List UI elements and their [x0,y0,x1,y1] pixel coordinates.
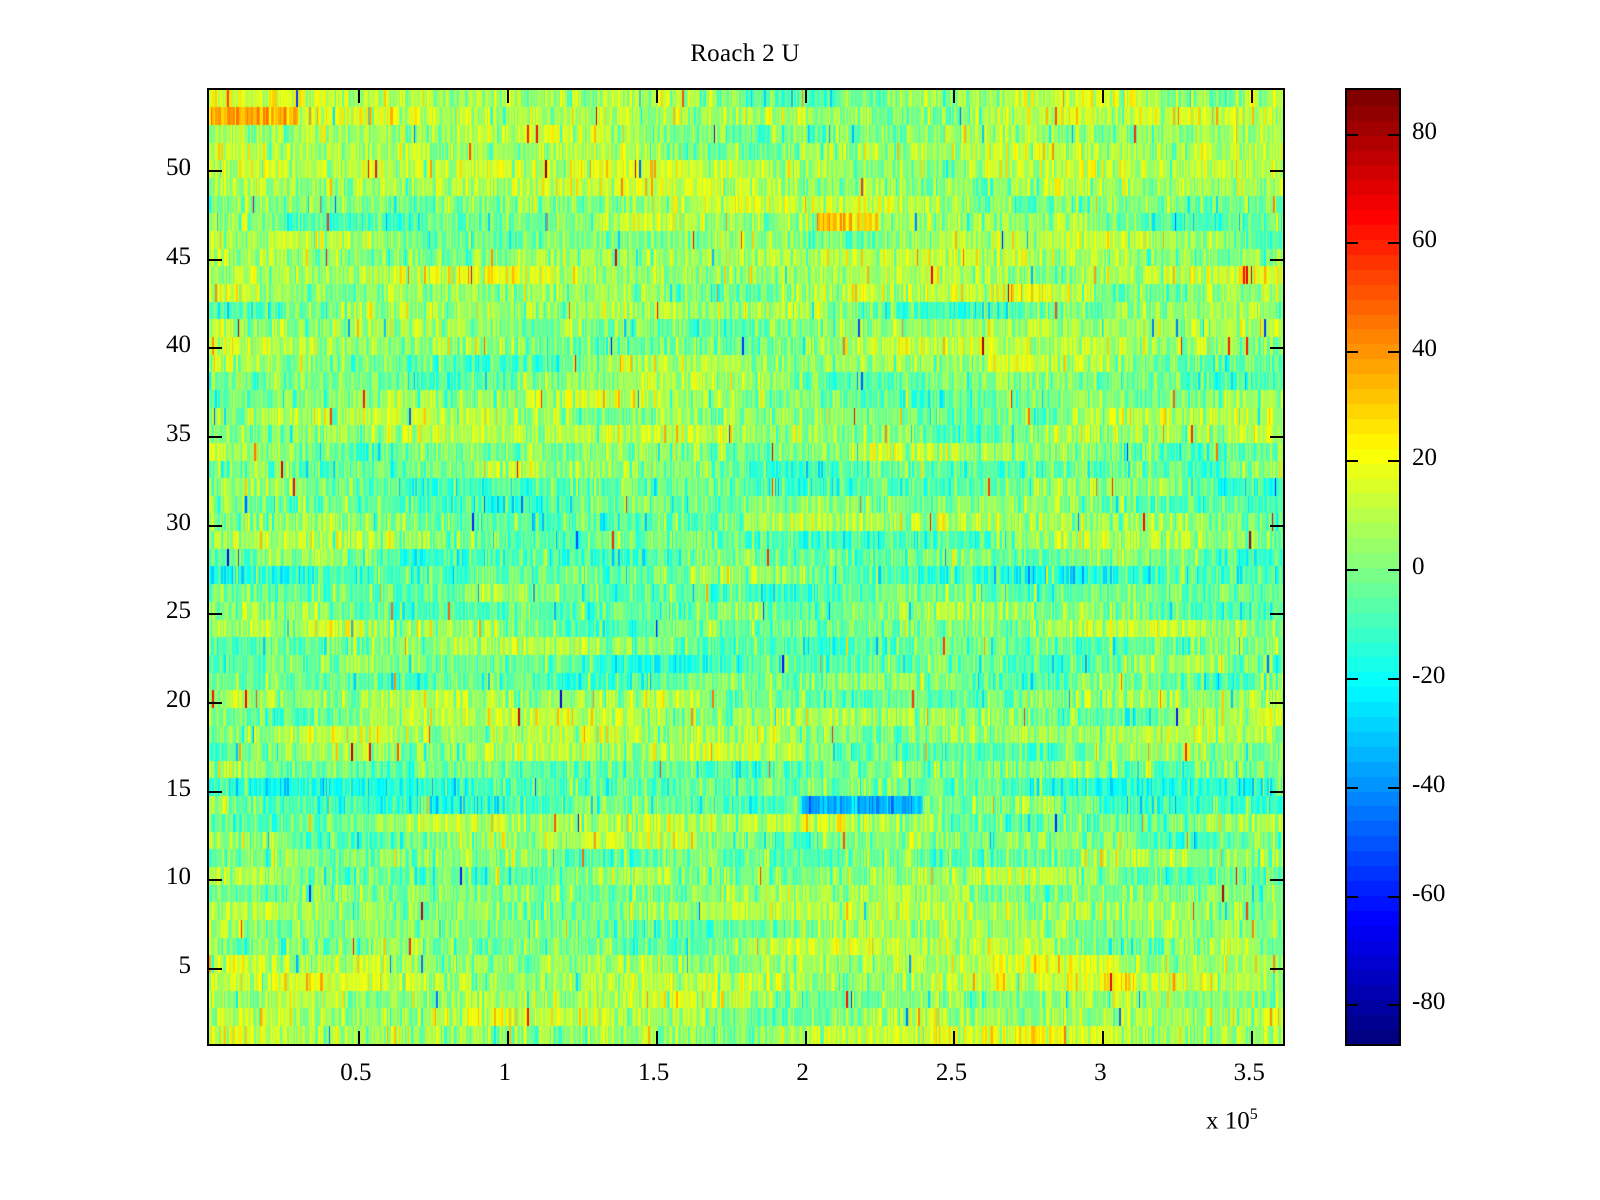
colorbar[interactable] [1345,88,1401,1046]
y-tick-mark-right [1270,347,1283,349]
y-tick-label: 35 [131,421,191,446]
y-tick-mark-right [1270,613,1283,615]
colorbar-tick-mark-right [1388,460,1399,462]
y-tick-mark-right [1270,879,1283,881]
x-tick-label: 2.5 [911,1060,991,1085]
heatmap-axes[interactable] [207,88,1285,1046]
x-tick-mark [656,1031,658,1044]
colorbar-tick-mark-right [1388,351,1399,353]
colorbar-tick-label: -40 [1412,772,1445,797]
colorbar-tick-label: 80 [1412,119,1437,144]
x-tick-mark [1102,1031,1104,1044]
heatmap-image [209,90,1283,1044]
colorbar-tick-mark-right [1388,1004,1399,1006]
x-tick-label: 3 [1060,1060,1140,1085]
x-tick-mark-top [805,90,807,103]
x-tick-mark [953,1031,955,1044]
colorbar-tick-label: -60 [1412,881,1445,906]
colorbar-tick-mark-right [1388,242,1399,244]
x-tick-label: 1 [465,1060,545,1085]
colorbar-tick-mark-right [1388,678,1399,680]
x-tick-mark-top [1251,90,1253,103]
x-tick-label: 1.5 [614,1060,694,1085]
y-tick-label: 40 [131,332,191,357]
x-tick-mark [1251,1031,1253,1044]
y-tick-mark [209,259,222,261]
x-exponent-power: 5 [1250,1106,1258,1123]
x-tick-mark [507,1031,509,1044]
y-tick-mark [209,525,222,527]
colorbar-tick-mark [1347,787,1358,789]
x-tick-mark [805,1031,807,1044]
x-tick-mark-top [507,90,509,103]
x-tick-mark-top [1102,90,1104,103]
colorbar-tick-mark [1347,460,1358,462]
x-tick-mark-top [358,90,360,103]
colorbar-gradient [1347,90,1399,1044]
y-tick-label: 20 [131,687,191,712]
y-tick-mark [209,879,222,881]
colorbar-tick-mark-right [1388,569,1399,571]
colorbar-tick-label: -20 [1412,663,1445,688]
y-tick-mark [209,613,222,615]
y-tick-mark-right [1270,436,1283,438]
y-tick-mark-right [1270,702,1283,704]
y-tick-mark [209,170,222,172]
colorbar-tick-mark-right [1388,787,1399,789]
colorbar-tick-label: 20 [1412,445,1437,470]
x-axis-exponent-label: x 105 [1206,1106,1258,1135]
colorbar-tick-mark [1347,134,1358,136]
y-tick-label: 10 [131,864,191,889]
y-tick-label: 25 [131,598,191,623]
y-tick-mark-right [1270,791,1283,793]
colorbar-tick-mark [1347,1004,1358,1006]
colorbar-tick-label: -80 [1412,989,1445,1014]
page-title: Roach 2 U [0,40,1490,68]
colorbar-tick-mark-right [1388,134,1399,136]
y-tick-label: 30 [131,510,191,535]
y-tick-mark [209,702,222,704]
x-exponent-base: x 10 [1206,1107,1250,1134]
x-tick-mark-top [953,90,955,103]
y-tick-mark [209,791,222,793]
colorbar-tick-mark [1347,569,1358,571]
colorbar-tick-label: 0 [1412,554,1425,579]
colorbar-tick-mark [1347,678,1358,680]
y-tick-label: 50 [131,155,191,180]
x-tick-label: 2 [763,1060,843,1085]
colorbar-tick-mark [1347,242,1358,244]
colorbar-tick-label: 60 [1412,227,1437,252]
colorbar-tick-mark-right [1388,896,1399,898]
colorbar-tick-mark [1347,351,1358,353]
x-tick-label: 0.5 [316,1060,396,1085]
x-tick-mark [358,1031,360,1044]
y-tick-mark-right [1270,259,1283,261]
colorbar-tick-label: 40 [1412,336,1437,361]
y-tick-label: 45 [131,244,191,269]
matlab-figure: Roach 2 U 5101520253035404550 0.511.522.… [0,0,1600,1200]
y-tick-mark-right [1270,525,1283,527]
x-tick-mark-top [656,90,658,103]
colorbar-tick-mark [1347,896,1358,898]
y-tick-mark-right [1270,968,1283,970]
x-tick-label: 3.5 [1209,1060,1289,1085]
y-tick-label: 5 [131,953,191,978]
y-tick-mark [209,968,222,970]
y-tick-mark [209,347,222,349]
y-tick-mark [209,436,222,438]
y-tick-mark-right [1270,170,1283,172]
y-tick-label: 15 [131,776,191,801]
